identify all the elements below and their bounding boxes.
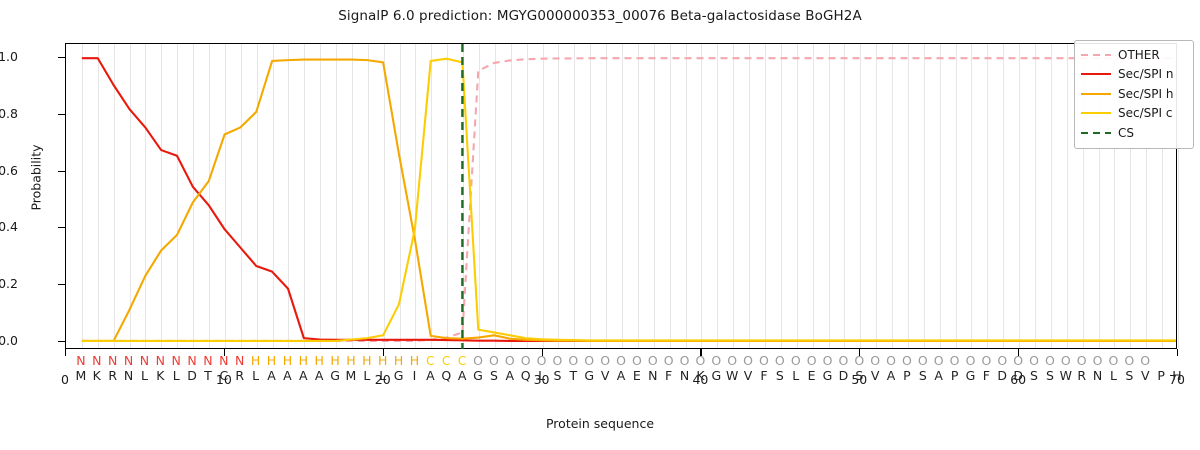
region-label-49: O — [835, 353, 851, 369]
region-label-25: C — [454, 353, 470, 369]
region-label-12: H — [248, 353, 264, 369]
residue-53: P — [899, 368, 915, 384]
region-label-67: O — [1121, 353, 1137, 369]
legend-cs-label: CS — [1118, 126, 1134, 140]
residue-17: G — [327, 368, 343, 384]
region-label-11: N — [232, 353, 248, 369]
region-label-59: O — [994, 353, 1010, 369]
region-label-47: O — [804, 353, 820, 369]
residue-46: L — [788, 368, 804, 384]
region-label-42: O — [724, 353, 740, 369]
residue-52: A — [883, 368, 899, 384]
residue-14: A — [279, 368, 295, 384]
region-label-22: H — [406, 353, 422, 369]
region-label-10: N — [216, 353, 232, 369]
residue-58: F — [978, 368, 994, 384]
region-label-53: O — [899, 353, 915, 369]
series-line-sec-spi-h — [82, 60, 1176, 341]
residue-20: L — [375, 368, 391, 384]
region-label-13: H — [264, 353, 280, 369]
region-label-37: O — [645, 353, 661, 369]
signalp-prediction-figure: SignalP 6.0 prediction: MGYG000000353_00… — [0, 0, 1200, 450]
region-annotation-row: NNNNNNNNNNNHHHHHHHHHHHCCCOOOOOOOOOOOOOOO… — [65, 353, 1177, 369]
y-tick-label: 0.2 — [0, 276, 18, 291]
region-label-51: O — [867, 353, 883, 369]
residue-32: T — [565, 368, 581, 384]
legend-sec-spi-h[interactable]: Sec/SPI h — [1081, 84, 1187, 104]
region-label-48: O — [820, 353, 836, 369]
residue-43: V — [740, 368, 756, 384]
region-label-44: O — [756, 353, 772, 369]
region-label-63: O — [1058, 353, 1074, 369]
region-label-18: H — [343, 353, 359, 369]
y-tick-label: 0.0 — [0, 333, 18, 348]
region-label-28: O — [502, 353, 518, 369]
residue-21: G — [391, 368, 407, 384]
region-label-58: O — [978, 353, 994, 369]
region-label-66: O — [1105, 353, 1121, 369]
residue-31: S — [549, 368, 565, 384]
region-label-17: H — [327, 353, 343, 369]
region-label-2: N — [89, 353, 105, 369]
region-label-20: H — [375, 353, 391, 369]
region-label-32: O — [565, 353, 581, 369]
legend-other[interactable]: OTHER — [1081, 45, 1187, 65]
residue-9: T — [200, 368, 216, 384]
residue-57: G — [962, 368, 978, 384]
residue-30: L — [534, 368, 550, 384]
series-line-sec-spi-c — [82, 59, 1176, 341]
residue-19: L — [359, 368, 375, 384]
region-label-16: H — [311, 353, 327, 369]
residue-35: A — [613, 368, 629, 384]
residue-66: L — [1105, 368, 1121, 384]
region-label-29: O — [518, 353, 534, 369]
region-label-64: O — [1074, 353, 1090, 369]
residue-50: S — [851, 368, 867, 384]
residue-27: S — [486, 368, 502, 384]
residue-40: K — [692, 368, 708, 384]
region-label-9: N — [200, 353, 216, 369]
region-label-54: O — [915, 353, 931, 369]
residue-60: D — [1010, 368, 1026, 384]
residue-34: V — [597, 368, 613, 384]
y-tick-mark — [58, 57, 65, 58]
residue-65: N — [1090, 368, 1106, 384]
y-tick-mark — [58, 341, 65, 342]
legend-sec-spi-c[interactable]: Sec/SPI c — [1081, 104, 1187, 124]
y-tick-mark — [58, 227, 65, 228]
region-label-24: C — [438, 353, 454, 369]
region-label-6: N — [152, 353, 168, 369]
solid-line-icon — [1081, 93, 1111, 95]
solid-line-icon — [1081, 73, 1111, 75]
region-label-35: O — [613, 353, 629, 369]
region-label-61: O — [1026, 353, 1042, 369]
plot-area — [65, 43, 1177, 349]
residue-13: A — [264, 368, 280, 384]
residue-63: W — [1058, 368, 1074, 384]
region-label-31: O — [549, 353, 565, 369]
residue-69: P — [1153, 368, 1169, 384]
region-label-52: O — [883, 353, 899, 369]
residue-8: D — [184, 368, 200, 384]
residue-24: Q — [438, 368, 454, 384]
region-label-23: C — [422, 353, 438, 369]
region-label-39: O — [677, 353, 693, 369]
protein-sequence-row: MKRNLKLDTCRLAAAAGMLLGIAQAGSAQLSTGVAENFNK… — [65, 368, 1177, 384]
y-tick-mark — [58, 114, 65, 115]
curves-layer — [66, 44, 1176, 349]
residue-7: L — [168, 368, 184, 384]
region-label-55: O — [931, 353, 947, 369]
residue-49: D — [835, 368, 851, 384]
region-label-30: O — [534, 353, 550, 369]
region-label-56: O — [947, 353, 963, 369]
region-label-43: O — [740, 353, 756, 369]
residue-36: E — [629, 368, 645, 384]
residue-11: R — [232, 368, 248, 384]
residue-59: D — [994, 368, 1010, 384]
region-label-36: O — [629, 353, 645, 369]
region-label-14: H — [279, 353, 295, 369]
residue-48: G — [820, 368, 836, 384]
region-label-15: H — [295, 353, 311, 369]
region-label-65: O — [1090, 353, 1106, 369]
region-label-4: N — [121, 353, 137, 369]
region-label-3: N — [105, 353, 121, 369]
legend-other-swatch — [1081, 50, 1111, 60]
region-label-38: O — [661, 353, 677, 369]
region-label-8: N — [184, 353, 200, 369]
residue-45: S — [772, 368, 788, 384]
region-label-40: O — [692, 353, 708, 369]
residue-15: A — [295, 368, 311, 384]
legend-cs-swatch — [1081, 128, 1111, 138]
residue-12: L — [248, 368, 264, 384]
x-axis-label: Protein sequence — [0, 416, 1200, 431]
residue-41: G — [708, 368, 724, 384]
region-label-1: N — [73, 353, 89, 369]
series-line-sec-spi-n — [82, 58, 1176, 341]
residue-61: S — [1026, 368, 1042, 384]
residue-23: A — [422, 368, 438, 384]
legend-sec-spi-h-label: Sec/SPI h — [1118, 87, 1173, 101]
y-tick-mark — [58, 171, 65, 172]
residue-28: A — [502, 368, 518, 384]
region-label-21: H — [391, 353, 407, 369]
region-label-33: O — [581, 353, 597, 369]
residue-18: M — [343, 368, 359, 384]
legend-sec-spi-c-label: Sec/SPI c — [1118, 106, 1172, 120]
region-label-26: O — [470, 353, 486, 369]
residue-54: S — [915, 368, 931, 384]
residue-1: M — [73, 368, 89, 384]
legend-sec-spi-c-swatch — [1081, 108, 1111, 118]
residue-39: N — [677, 368, 693, 384]
region-label-46: O — [788, 353, 804, 369]
residue-2: K — [89, 368, 105, 384]
region-label-60: O — [1010, 353, 1026, 369]
residue-70: H — [1169, 368, 1185, 384]
residue-33: G — [581, 368, 597, 384]
series-line-other — [82, 58, 1176, 341]
legend[interactable]: OTHERSec/SPI nSec/SPI hSec/SPI cCS — [1074, 40, 1194, 149]
y-tick-label: 0.4 — [0, 219, 18, 234]
region-label-45: O — [772, 353, 788, 369]
residue-62: S — [1042, 368, 1058, 384]
residue-10: C — [216, 368, 232, 384]
dashed-line-icon — [1081, 54, 1111, 56]
residue-25: A — [454, 368, 470, 384]
residue-55: A — [931, 368, 947, 384]
region-label-41: O — [708, 353, 724, 369]
region-label-34: O — [597, 353, 613, 369]
region-label-27: O — [486, 353, 502, 369]
solid-line-icon — [1081, 112, 1111, 114]
residue-29: Q — [518, 368, 534, 384]
residue-5: L — [136, 368, 152, 384]
residue-6: K — [152, 368, 168, 384]
legend-cs[interactable]: CS — [1081, 123, 1187, 143]
residue-37: N — [645, 368, 661, 384]
legend-sec-spi-n-label: Sec/SPI n — [1118, 67, 1173, 81]
legend-sec-spi-n-swatch — [1081, 69, 1111, 79]
residue-47: E — [804, 368, 820, 384]
legend-sec-spi-n[interactable]: Sec/SPI n — [1081, 65, 1187, 85]
dashed-line-icon — [1081, 132, 1111, 134]
x-tick-mark — [1177, 349, 1178, 356]
region-label-62: O — [1042, 353, 1058, 369]
region-label-50: O — [851, 353, 867, 369]
residue-3: R — [105, 368, 121, 384]
region-label-57: O — [962, 353, 978, 369]
y-tick-label: 0.8 — [0, 106, 18, 121]
residue-68: V — [1137, 368, 1153, 384]
residue-38: F — [661, 368, 677, 384]
y-tick-mark — [58, 284, 65, 285]
residue-26: G — [470, 368, 486, 384]
page-title: SignalP 6.0 prediction: MGYG000000353_00… — [0, 8, 1200, 24]
region-label-7: N — [168, 353, 184, 369]
legend-other-label: OTHER — [1118, 48, 1160, 62]
residue-16: A — [311, 368, 327, 384]
residue-42: W — [724, 368, 740, 384]
y-tick-label: 0.6 — [0, 163, 18, 178]
residue-22: I — [406, 368, 422, 384]
residue-56: P — [947, 368, 963, 384]
residue-4: N — [121, 368, 137, 384]
y-axis-label: Probability — [29, 103, 44, 253]
residue-64: R — [1074, 368, 1090, 384]
residue-44: F — [756, 368, 772, 384]
region-label-5: N — [136, 353, 152, 369]
region-label-68: O — [1137, 353, 1153, 369]
residue-51: V — [867, 368, 883, 384]
legend-sec-spi-h-swatch — [1081, 89, 1111, 99]
y-tick-label: 1.0 — [0, 49, 18, 64]
region-label-19: H — [359, 353, 375, 369]
residue-67: S — [1121, 368, 1137, 384]
